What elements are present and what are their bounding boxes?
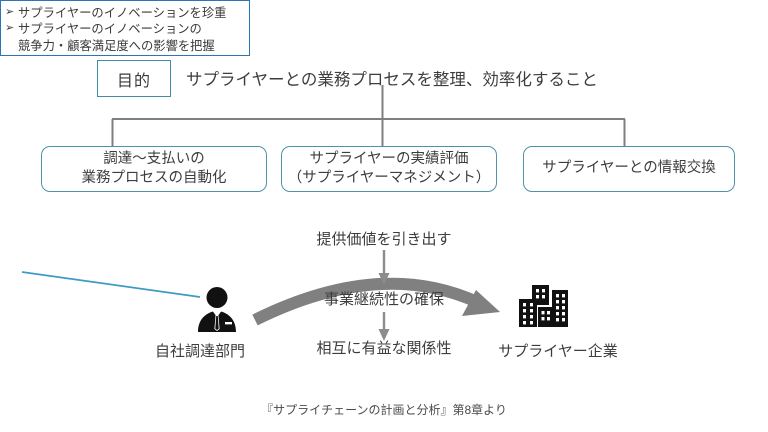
pillar-line-2: （サプライヤーマネジメント）	[288, 169, 491, 188]
callout-bullet-text: サプライヤーのイノベーションの 競争力・顧客満足度への影響を把握	[18, 21, 215, 54]
pillar-box-evaluation: サプライヤーの実績評価 （サプライヤーマネジメント）	[281, 146, 497, 192]
diagram-canvas: 目的 サプライヤーとの業務プロセスを整理、効率化すること 調達～支払いの 業務プ…	[0, 0, 768, 432]
pillar-line-1: サプライヤーとの情報交換	[542, 159, 715, 178]
pillar-line-2: 業務プロセスの自動化	[82, 169, 227, 188]
office-buildings-icon	[518, 283, 570, 329]
bullet-arrow-icon: ➢	[5, 21, 18, 37]
pillar-box-exchange: サプライヤーとの情報交換	[523, 146, 735, 192]
callout-box: ➢ サプライヤーのイノベーションを珍重 ➢ サプライヤーのイノベーションの 競争…	[0, 0, 250, 56]
actor-label-right: サプライヤー企業	[473, 340, 643, 361]
callout-bullet-item: ➢ サプライヤーのイノベーションを珍重	[5, 5, 246, 21]
businessman-icon	[193, 286, 241, 332]
callout-bullet-line-1: サプライヤーのイノベーションの	[18, 22, 202, 36]
callout-bullet-item: ➢ サプライヤーのイノベーションの 競争力・顧客満足度への影響を把握	[5, 21, 246, 54]
connector-tree	[0, 85, 768, 155]
callout-bullet-text: サプライヤーのイノベーションを珍重	[18, 5, 226, 21]
bullet-arrow-icon: ➢	[5, 5, 18, 21]
flow-arrow-1	[379, 250, 390, 285]
pillar-line-1: 調達～支払いの	[103, 150, 205, 169]
source-caption: 『サプライチェーンの計画と分析』第8章より	[0, 401, 768, 418]
flow-step-1: 提供価値を引き出す	[0, 228, 768, 249]
callout-bullet-line-2: 競争力・顧客満足度への影響を把握	[18, 38, 215, 54]
pillar-line-1: サプライヤーの実績評価	[309, 150, 468, 169]
pillar-box-automation: 調達～支払いの 業務プロセスの自動化	[41, 146, 267, 192]
flow-step-2: 事業継続性の確保	[0, 288, 768, 309]
actor-label-left: 自社調達部門	[115, 340, 285, 361]
